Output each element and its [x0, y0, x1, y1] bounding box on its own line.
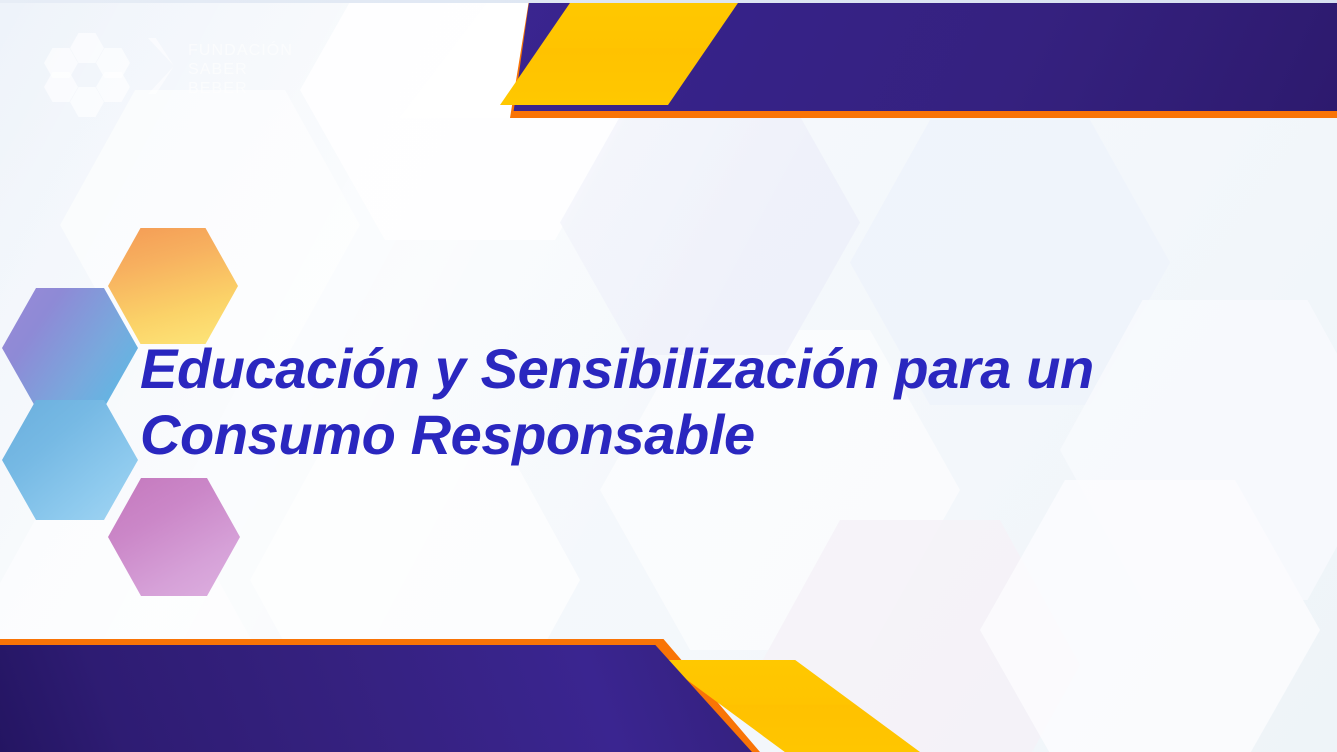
fundacion-saber-beber-logo: FUNDACIÓN SABER BEBER	[38, 30, 278, 102]
top-hairline	[0, 0, 1337, 3]
logo-line-1: FUNDACIÓN	[188, 42, 293, 61]
logo-wordmark: FUNDACIÓN SABER BEBER	[188, 42, 293, 99]
logo-line-2: SABER BEBER	[188, 61, 293, 99]
bottom-purple-shape	[0, 645, 755, 752]
slide-title: Educación y Sensibilización para un Cons…	[140, 336, 1310, 468]
logo-honeycomb-icon	[44, 32, 156, 100]
bottom-decorative-band	[0, 632, 1337, 752]
presentation-slide: FUNDACIÓN SABER BEBER Educación y Sensib…	[0, 0, 1337, 752]
